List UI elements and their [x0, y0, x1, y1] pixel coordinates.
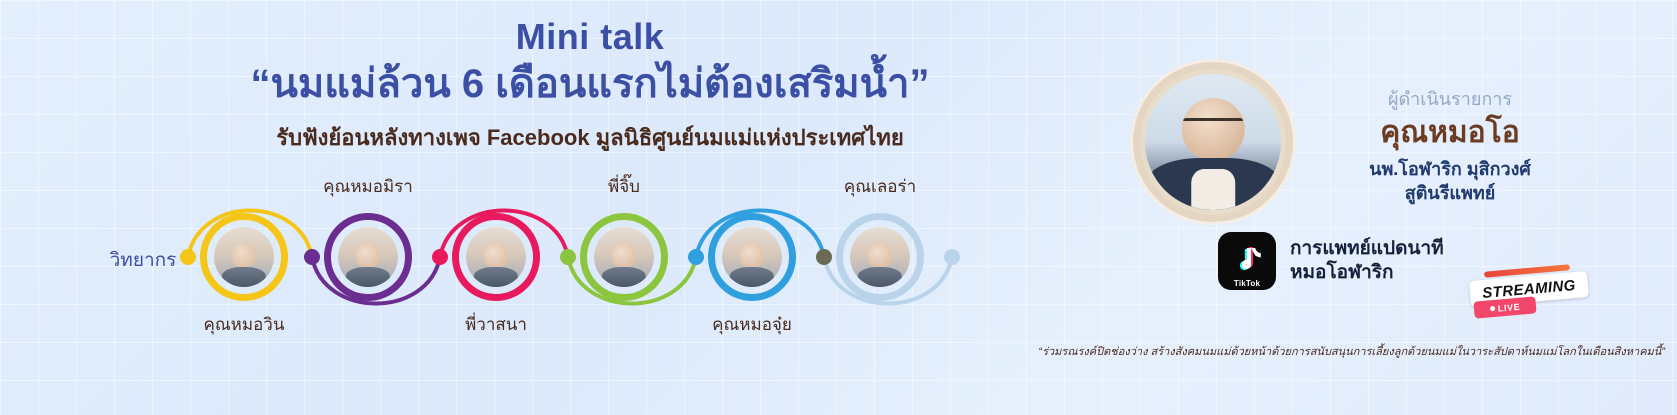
speaker-name-5: คุณหมอจุ๋ย [688, 311, 816, 338]
speaker-name-2: คุณหมอมิรา [304, 173, 432, 200]
avatar [594, 227, 654, 287]
tiktok-channel[interactable]: TikTok การแพทย์แปดนาที หมอโอฬาริก [1218, 232, 1444, 290]
host-nickname: คุณหมอโอ [1300, 113, 1600, 154]
host-info: ผู้ดำเนินรายการ คุณหมอโอ นพ.โอฬาริก มุสิ… [1300, 88, 1600, 205]
streaming-badge: STREAMING LIVE [1470, 268, 1590, 316]
speaker-name-4: พี่จิ๊บ [560, 173, 688, 200]
avatar [338, 227, 398, 287]
host-full-name: นพ.โอฬาริก มุสิกวงศ์ [1300, 157, 1600, 181]
glasses-icon [1183, 118, 1243, 133]
live-dot-icon [1490, 306, 1495, 311]
speakers-track: คุณหมอวิน คุณหมอมิรา พี่วาสนา พี่จิ๊บ คุ… [170, 185, 1010, 335]
avatar [466, 227, 526, 287]
speaker-avatar-6[interactable] [836, 213, 924, 301]
headline-block: Mini talk “นมแม่ล้วน 6 เดือนแรกไม่ต้องเส… [0, 16, 1180, 152]
avatar [214, 227, 274, 287]
event-banner: Mini talk “นมแม่ล้วน 6 เดือนแรกไม่ต้องเส… [0, 0, 1677, 415]
headline-line-2: “นมแม่ล้วน 6 เดือนแรกไม่ต้องเสริมน้ำ” [0, 59, 1180, 109]
speaker-avatar-1[interactable] [200, 213, 288, 301]
speaker-avatar-5[interactable] [708, 213, 796, 301]
tiktok-channel-line-1: การแพทย์แปดนาที [1290, 237, 1444, 261]
speaker-name-6: คุณเลอร่า [816, 173, 944, 200]
footer-note: “ร่วมรณรงค์ปิดช่องว่าง สร้างสังคมนมแม่ด้… [845, 345, 1665, 359]
avatar [850, 227, 910, 287]
speaker-avatar-4[interactable] [580, 213, 668, 301]
host-avatar [1133, 62, 1293, 222]
tiktok-channel-line-2: หมอโอฬาริก [1290, 261, 1444, 285]
headline-subtitle: รับฟังย้อนหลังทางเพจ Facebook มูลนิธิศูน… [0, 125, 1180, 151]
headline-line-1: Mini talk [0, 16, 1180, 57]
speaker-name-1: คุณหมอวิน [180, 311, 308, 338]
host-role: ผู้ดำเนินรายการ [1300, 88, 1600, 111]
host-specialty: สูตินรีแพทย์ [1300, 181, 1600, 205]
speaker-name-3: พี่วาสนา [432, 311, 560, 338]
speaker-avatar-2[interactable] [324, 213, 412, 301]
speaker-avatar-3[interactable] [452, 213, 540, 301]
tiktok-wordmark: TikTok [1218, 279, 1276, 288]
tiktok-icon[interactable]: TikTok [1218, 232, 1276, 290]
tiktok-channel-name: การแพทย์แปดนาที หมอโอฬาริก [1290, 237, 1444, 285]
live-label: LIVE [1497, 301, 1520, 313]
avatar [722, 227, 782, 287]
